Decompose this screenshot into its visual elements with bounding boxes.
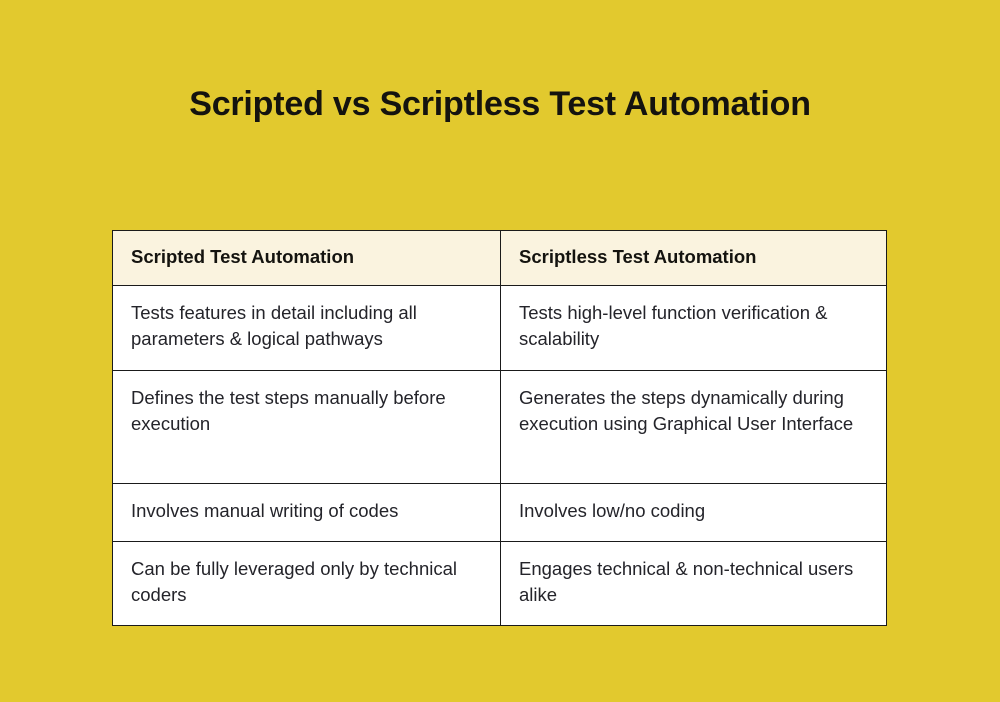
cell-scripted-2: Defines the test steps manually before e…	[113, 371, 501, 484]
cell-scripted-4: Can be fully leveraged only by technical…	[113, 542, 501, 626]
cell-scriptless-1: Tests high-level function verification &…	[501, 286, 887, 371]
cell-scriptless-4: Engages technical & non-technical users …	[501, 542, 887, 626]
cell-scriptless-3: Involves low/no coding	[501, 484, 887, 542]
table-row: Tests features in detail including all p…	[113, 286, 887, 371]
table-body: Tests features in detail including all p…	[113, 286, 887, 626]
column-header-scriptless: Scriptless Test Automation	[501, 231, 887, 286]
table-header: Scripted Test Automation Scriptless Test…	[113, 231, 887, 286]
column-header-scripted: Scripted Test Automation	[113, 231, 501, 286]
comparison-table: Scripted Test Automation Scriptless Test…	[112, 230, 887, 626]
table-header-row: Scripted Test Automation Scriptless Test…	[113, 231, 887, 286]
page-title: Scripted vs Scriptless Test Automation	[0, 82, 1000, 126]
table-row: Defines the test steps manually before e…	[113, 371, 887, 484]
table-row: Can be fully leveraged only by technical…	[113, 542, 887, 626]
cell-scripted-1: Tests features in detail including all p…	[113, 286, 501, 371]
cell-scriptless-2: Generates the steps dynamically during e…	[501, 371, 887, 484]
cell-scripted-3: Involves manual writing of codes	[113, 484, 501, 542]
table-row: Involves manual writing of codes Involve…	[113, 484, 887, 542]
infographic-page: Scripted vs Scriptless Test Automation S…	[0, 0, 1000, 702]
